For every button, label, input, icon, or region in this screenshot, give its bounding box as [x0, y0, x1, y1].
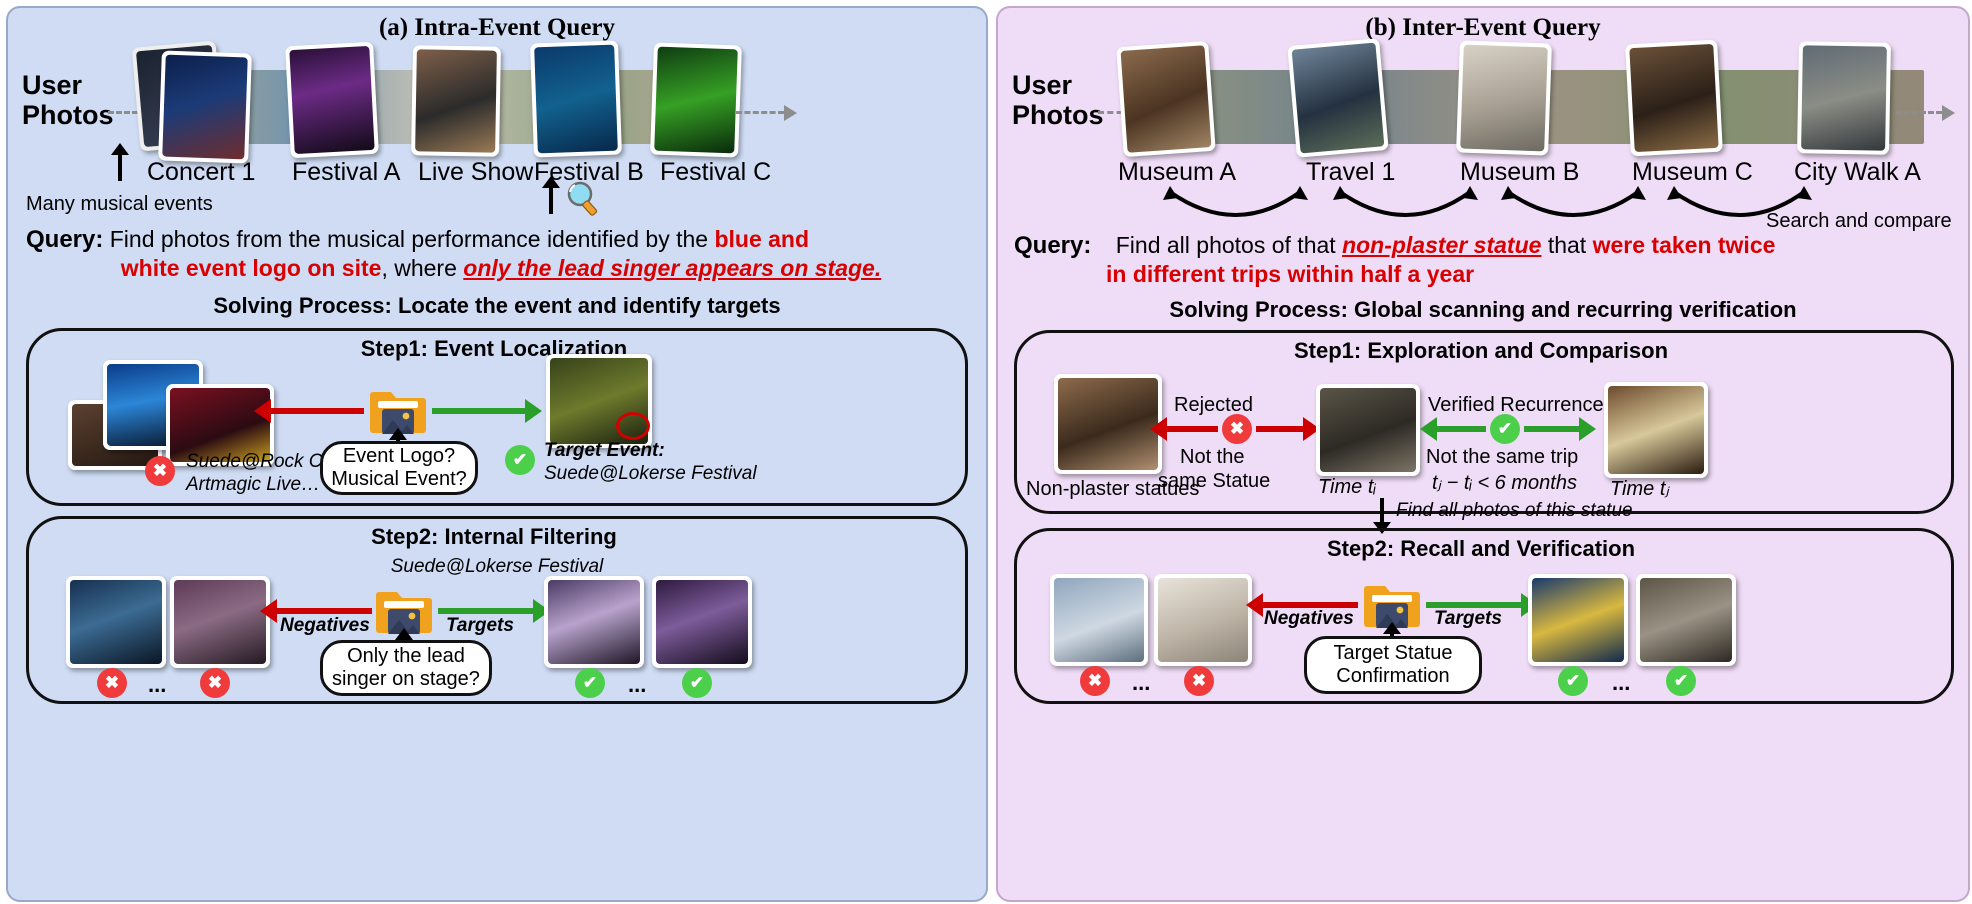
- query-line2-red-a: white event logo on site: [121, 255, 382, 281]
- target-statue-confirmation-bubble: Target Statue Confirmation: [1304, 636, 1482, 694]
- arrow-head-icon: [254, 399, 271, 423]
- photo-image: [548, 580, 640, 664]
- photo-card: [1116, 41, 1215, 157]
- bubble-line2-b-step2: Confirmation: [1336, 665, 1449, 688]
- photo-card: [1054, 374, 1162, 474]
- photo-image: [1320, 388, 1416, 472]
- time-j-label: Time tⱼ: [1610, 476, 1669, 501]
- event-label-b-3: Museum C: [1632, 158, 1753, 187]
- magnifying-glass-icon: [565, 180, 601, 218]
- arrow-head-icon: [1579, 417, 1596, 441]
- photo-card: [530, 40, 622, 157]
- photo-card: [1528, 574, 1628, 666]
- ellipsis-b-negatives: ...: [1132, 670, 1150, 696]
- photo-card: [1154, 574, 1252, 666]
- time-i-label: Time tᵢ: [1318, 476, 1376, 499]
- solving-process-b: Solving Process: Global scanning and rec…: [998, 297, 1968, 323]
- reject-badge: ✖: [97, 668, 127, 698]
- caption-search-compare: Search and compare: [1766, 210, 1952, 233]
- verified-sub-line2: tⱼ − tᵢ < 6 months: [1432, 470, 1577, 495]
- photo-image: [1460, 45, 1548, 152]
- query-line2-red-b: in different trips within half a year: [1106, 261, 1474, 287]
- ellipsis-b-targets: ...: [1612, 670, 1630, 696]
- photo-card: [652, 576, 752, 668]
- negatives-label-b: Negatives: [1264, 608, 1354, 630]
- arrow-head-icon: [1942, 105, 1955, 121]
- targets-label-a: Targets: [446, 615, 514, 637]
- arrow-head-icon: [1246, 593, 1263, 617]
- user-photos-label-a: User Photos: [22, 70, 114, 130]
- query-label-a: Query:: [26, 226, 103, 253]
- photo-card: [1456, 40, 1552, 155]
- query-label-b: Query:: [1014, 232, 1091, 259]
- rejected-sub-line2: same Statue: [1158, 470, 1270, 493]
- figure-root: (a) Intra-Event Query User Photos Concer…: [0, 0, 1972, 904]
- event-label-a-4: Festival C: [660, 158, 771, 187]
- down-arrow-step1-b: [1380, 498, 1384, 524]
- arrow-head-icon: [1383, 622, 1401, 634]
- user-photos-label-b: User Photos: [1012, 70, 1104, 130]
- photo-card: [1625, 40, 1723, 157]
- arrow-head-icon: [389, 428, 407, 440]
- step2-event-name-a: Suede@Lokerse Festival: [8, 556, 986, 578]
- arrow-head-icon: [395, 628, 413, 640]
- event-label-a-2: Live Show: [418, 158, 533, 187]
- photo-image: [1158, 578, 1248, 662]
- reject-badge: ✖: [1222, 414, 1252, 444]
- verified-arrow-left: [1436, 426, 1486, 432]
- bubble-line1-a-step2: Only the lead: [347, 645, 465, 668]
- rejected-sub-line1: Not the: [1180, 446, 1244, 469]
- photo-card: [66, 576, 166, 668]
- photo-card: [158, 50, 252, 163]
- query-line1-red-a: blue and: [714, 226, 809, 252]
- arrow-head-icon: [260, 599, 277, 623]
- photo-image: [656, 580, 748, 664]
- pointer-arrow-festivalb: [549, 186, 553, 214]
- photo-card: [411, 45, 501, 157]
- photo-image: [1629, 44, 1718, 152]
- event-label-a-1: Festival A: [292, 158, 400, 187]
- event-label-b-1: Travel 1: [1306, 158, 1395, 187]
- photo-image: [70, 580, 162, 664]
- photo-card: [1050, 574, 1148, 666]
- photo-image: [654, 47, 738, 154]
- step2-title-a: Step2: Internal Filtering: [26, 524, 962, 550]
- timeline-dash-right-b: [1896, 111, 1942, 114]
- accept-badge: ✔: [1558, 666, 1588, 696]
- pointer-arrow-concert1: [118, 153, 122, 181]
- event-label-b-4: City Walk A: [1794, 158, 1921, 187]
- targets-label-b: Targets: [1434, 608, 1502, 630]
- arrow-head-icon: [784, 105, 797, 121]
- panel-b-title: (b) Inter-Event Query: [998, 14, 1968, 42]
- timeline-dash-right-a: [736, 111, 784, 114]
- accept-badge: ✔: [1666, 666, 1696, 696]
- solving-process-a: Solving Process: Locate the event and id…: [8, 293, 986, 319]
- arrow-head-icon: [1150, 417, 1167, 441]
- bubble-line1-a-step1: Event Logo?: [343, 445, 455, 468]
- arrow-head-icon: [525, 399, 542, 423]
- step2-title-b: Step2: Recall and Verification: [1014, 536, 1948, 562]
- query-line2-mid-a: , where: [381, 255, 463, 281]
- verified-arrow-right: [1524, 426, 1580, 432]
- rejected-arrow-right: [1256, 426, 1304, 432]
- photo-image: [1608, 386, 1704, 474]
- find-all-photos-label: Find all photos of this statue: [1396, 500, 1633, 522]
- reject-badge: ✖: [1080, 666, 1110, 696]
- rejected-label: Rejected: [1174, 394, 1253, 417]
- bubble-line2-a-step1: Musical Event?: [331, 468, 467, 491]
- verified-sub-line1: Not the same trip: [1426, 446, 1578, 469]
- photo-image: [1532, 578, 1624, 662]
- targets-arrow-a-step2: [438, 608, 534, 614]
- negatives-label-a: Negatives: [280, 615, 370, 637]
- rejected-arrow-left: [1166, 426, 1218, 432]
- reject-badge: ✖: [200, 668, 230, 698]
- photo-card: [1636, 574, 1736, 666]
- event-logo-question-bubble: Event Logo? Musical Event?: [320, 441, 478, 495]
- ellipsis-a-targets: ...: [628, 672, 646, 698]
- photo-image: [289, 46, 374, 154]
- caption-many-events: Many musical events: [26, 193, 213, 216]
- accept-badge: ✔: [682, 668, 712, 698]
- photo-image: [1292, 43, 1385, 154]
- event-label-b-0: Museum A: [1118, 158, 1236, 187]
- panel-a-title: (a) Intra-Event Query: [8, 14, 986, 42]
- negative-caption-line2-a: Artmagic Live…: [186, 474, 320, 496]
- photo-card: [1287, 38, 1388, 158]
- photo-image: [415, 49, 497, 152]
- query-line1-red-b: were taken twice: [1593, 232, 1776, 258]
- photo-image: [1640, 578, 1732, 662]
- bubble-line2-a-step2: singer on stage?: [332, 668, 480, 691]
- event-label-a-0: Concert 1: [147, 158, 255, 187]
- negatives-arrow-a-step1: [270, 408, 364, 414]
- panel-inter-event-query: (b) Inter-Event Query User Photos Museum…: [996, 6, 1970, 902]
- reject-badge: ✖: [1184, 666, 1214, 696]
- bubble-line1-b-step2: Target Statue: [1334, 642, 1453, 665]
- negative-caption-line1-a: Suede@Rock City: [186, 451, 342, 473]
- photo-image: [1121, 45, 1212, 153]
- arrow-head-icon: [111, 143, 129, 155]
- photo-card: [1604, 382, 1708, 478]
- panel-intra-event-query: (a) Intra-Event Query User Photos Concer…: [6, 6, 988, 902]
- target-caption-line2-a: Suede@Lokerse Festival: [544, 463, 757, 485]
- step1-title-b: Step1: Exploration and Comparison: [1014, 338, 1948, 364]
- query-line1-redital-b: non-plaster statue: [1342, 232, 1541, 258]
- query-line2-redital-a: only the lead singer appears on stage.: [463, 255, 881, 281]
- photo-card: [650, 42, 742, 157]
- photo-image: [1054, 578, 1144, 662]
- verified-recurrence-label: Verified Recurrence: [1428, 394, 1604, 417]
- query-line1-plain-b: Find all photos of that: [1116, 232, 1342, 258]
- arrow-head-icon: [542, 176, 560, 188]
- accept-badge: ✔: [575, 668, 605, 698]
- arrow-head-icon: [1420, 417, 1437, 441]
- reject-badge: ✖: [145, 456, 175, 486]
- lead-singer-question-bubble: Only the lead singer on stage?: [320, 640, 492, 696]
- photo-image: [174, 580, 266, 664]
- query-line1-plain-a: Find photos from the musical performance…: [110, 226, 715, 252]
- ellipsis-a-negatives: ...: [148, 672, 166, 698]
- photo-card: [285, 42, 379, 158]
- query-line1-mid-b: that: [1541, 232, 1592, 258]
- photo-card: [1797, 41, 1891, 155]
- photo-card: [1316, 384, 1420, 476]
- accept-badge: ✔: [505, 445, 535, 475]
- negatives-arrow-a-step2: [276, 608, 372, 614]
- accept-badge: ✔: [1490, 414, 1520, 444]
- photo-image: [1801, 45, 1887, 150]
- target-caption-line1-a: Target Event:: [544, 440, 665, 462]
- photo-card: [544, 576, 644, 668]
- photo-image: [534, 45, 618, 154]
- targets-arrow-a-step1: [432, 408, 526, 414]
- photo-image: [1058, 378, 1158, 470]
- logo-highlight-circle: [616, 412, 650, 440]
- photo-card: [170, 576, 270, 668]
- step1-title-a: Step1: Event Localization: [26, 336, 962, 362]
- photo-image: [162, 55, 248, 160]
- event-label-b-2: Museum B: [1460, 158, 1579, 187]
